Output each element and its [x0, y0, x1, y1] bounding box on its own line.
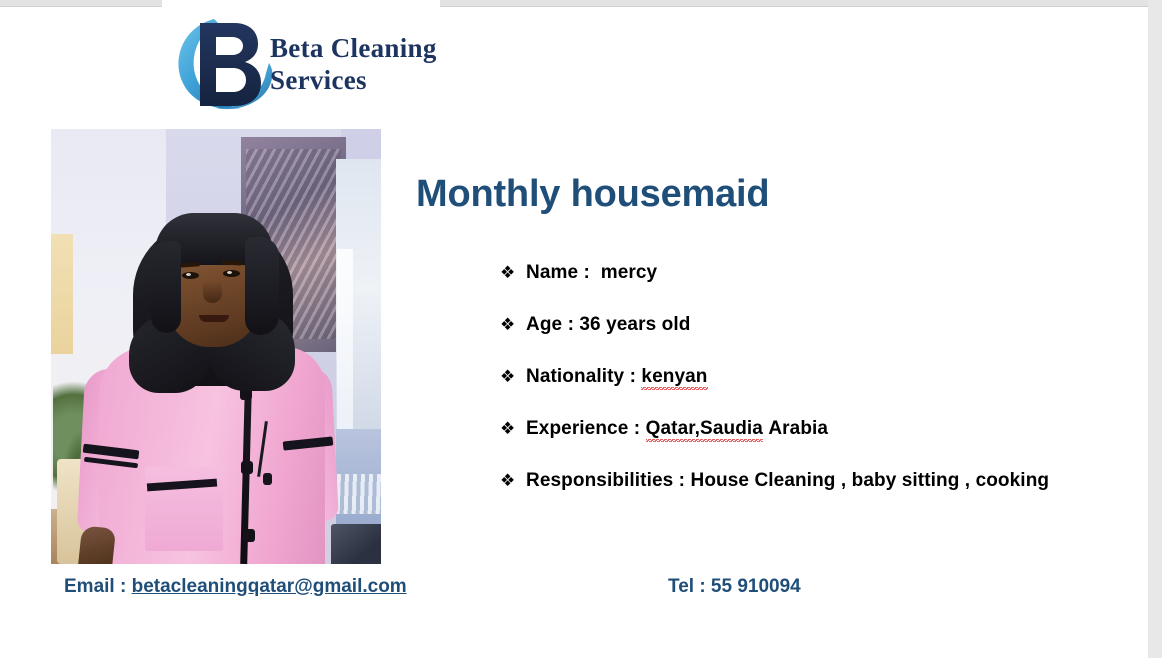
- detail-experience: Experience : Qatar,Saudia Arabia: [526, 418, 828, 440]
- detail-name: Name : mercy: [526, 262, 657, 284]
- window-chrome-gap: [162, 0, 440, 7]
- list-item: ❖ Experience : Qatar,Saudia Arabia: [500, 418, 1120, 440]
- brand-name-line1: Beta Cleaning: [270, 33, 437, 65]
- photo-uniform-button-mid: [241, 461, 253, 474]
- detail-responsibilities-label: Responsibilities :: [526, 470, 685, 491]
- detail-experience-value-misspelled: Qatar,Saudia: [646, 418, 763, 442]
- page-title: Monthly housemaid: [416, 173, 769, 216]
- diamond-bullet-icon: ❖: [500, 420, 526, 437]
- detail-age-value: 36 years old: [579, 314, 690, 335]
- diamond-bullet-icon: ❖: [500, 368, 526, 385]
- beta-b-swoosh-logo-icon: [170, 13, 278, 117]
- contact-email: Email : betacleaningqatar@gmail.com: [64, 576, 407, 598]
- photo-bg-white-strip: [337, 249, 353, 449]
- detail-responsibilities: Responsibilities : House Cleaning , baby…: [526, 470, 1049, 492]
- details-list: ❖ Name : mercy ❖ Age : 36 years old ❖ Na…: [500, 262, 1120, 522]
- detail-experience-value: Arabia: [768, 418, 828, 439]
- detail-nationality: Nationality : kenyan: [526, 366, 708, 388]
- photo-mouth: [199, 315, 229, 322]
- list-item: ❖ Nationality : kenyan: [500, 366, 1120, 388]
- photo-uniform-button-low: [243, 529, 255, 542]
- detail-experience-label: Experience :: [526, 418, 640, 439]
- photo-eye-highlight-left: [186, 273, 191, 276]
- housemaid-photo: [51, 129, 381, 564]
- list-item: ❖ Age : 36 years old: [500, 314, 1120, 336]
- detail-nationality-label: Nationality :: [526, 366, 636, 387]
- brand-name: Beta Cleaning Services: [270, 33, 437, 97]
- list-item: ❖ Name : mercy: [500, 262, 1120, 284]
- brand-logo: Beta Cleaning Services: [170, 13, 420, 117]
- detail-name-label: Name :: [526, 262, 590, 283]
- photo-nose: [203, 281, 222, 303]
- document-page: Beta Cleaning Services: [0, 7, 1148, 658]
- contact-telephone: Tel : 55 910094: [668, 576, 801, 598]
- photo-eye-highlight-right: [227, 271, 232, 274]
- window-chrome-left-strip: [0, 0, 162, 7]
- detail-nationality-value: kenyan: [641, 366, 707, 390]
- photo-bg-dark-object: [331, 524, 381, 564]
- detail-age-label: Age :: [526, 314, 574, 335]
- list-item: ❖ Responsibilities : House Cleaning , ba…: [500, 470, 1120, 492]
- document-viewer: Beta Cleaning Services: [0, 0, 1162, 658]
- diamond-bullet-icon: ❖: [500, 316, 526, 333]
- contact-email-label: Email :: [64, 576, 126, 597]
- photo-hijab-cheek-left: [151, 241, 181, 333]
- contact-email-address[interactable]: betacleaningqatar@gmail.com: [132, 576, 407, 597]
- window-chrome-right-strip: [440, 0, 1148, 7]
- diamond-bullet-icon: ❖: [500, 472, 526, 489]
- diamond-bullet-icon: ❖: [500, 264, 526, 281]
- photo-cord-tip: [263, 473, 272, 485]
- photo-bg-gold-panel: [51, 234, 73, 354]
- detail-responsibilities-value: House Cleaning , baby sitting , cooking: [691, 470, 1050, 491]
- detail-age: Age : 36 years old: [526, 314, 690, 336]
- detail-name-value: mercy: [601, 262, 658, 283]
- brand-name-line2: Services: [270, 65, 437, 97]
- photo-hijab-cheek-right: [245, 237, 279, 335]
- vertical-scrollbar[interactable]: [1148, 0, 1162, 658]
